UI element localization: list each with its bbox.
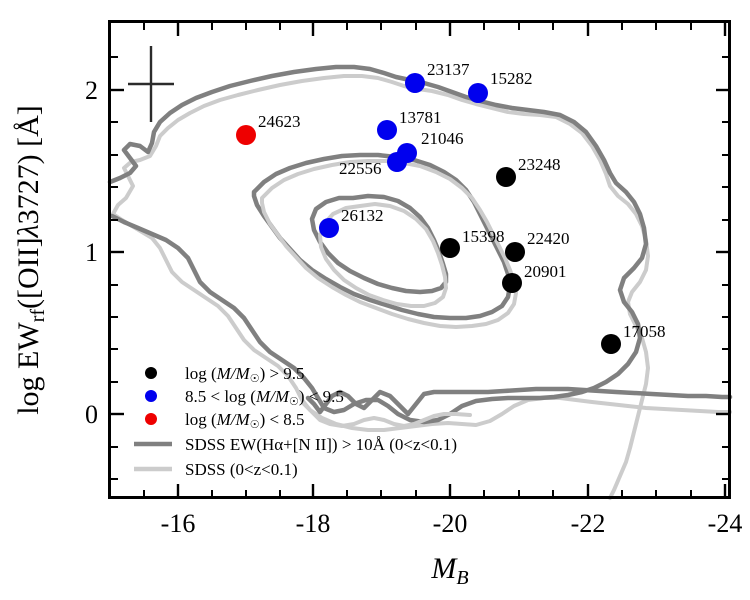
data-point-label-15282: 15282	[490, 69, 533, 88]
x-tick-label: -16	[161, 509, 196, 538]
data-point-label-24623: 24623	[258, 112, 301, 131]
data-point-24623[interactable]	[236, 125, 256, 145]
x-tick-label: -24	[708, 509, 743, 538]
legend-marker-mass-low	[145, 413, 157, 425]
legend-label-mass-mid: 8.5 < log (M/M☉) < 9.5	[185, 387, 344, 408]
data-point-22556[interactable]	[387, 152, 407, 172]
x-tick-label: -20	[433, 509, 468, 538]
legend-label-mass-high: log (M/M☉) > 9.5	[185, 364, 305, 385]
y-tick-label: 0	[85, 400, 98, 429]
data-point-23137[interactable]	[405, 73, 425, 93]
data-point-17058[interactable]	[601, 334, 621, 354]
data-point-label-21046: 21046	[421, 129, 464, 148]
data-point-20901[interactable]	[502, 273, 522, 293]
data-point-22420[interactable]	[505, 242, 525, 262]
data-point-15282[interactable]	[468, 83, 488, 103]
scatter-plot: 23137 15282 24623 13781 21046 22556 2324…	[0, 0, 750, 600]
legend-label-sdss-ew: SDSS EW(Hα+[N II]) > 10Å (0<z<0.1)	[185, 435, 457, 454]
x-tick-labels: -16 -18 -20 -22 -24	[161, 509, 743, 538]
data-point-label-15398: 15398	[462, 227, 505, 246]
data-point-label-22556: 22556	[339, 159, 382, 178]
data-points-group: 23137 15282 24623 13781 21046 22556 2324…	[236, 60, 666, 354]
legend-marker-mass-high	[145, 367, 157, 379]
y-tick-label: 2	[85, 76, 98, 105]
data-point-23248[interactable]	[496, 167, 516, 187]
data-point-label-22420: 22420	[527, 229, 570, 248]
y-axis-title: log EWrf([OII]λ3727) [Å]	[12, 105, 49, 415]
x-tick-label: -22	[571, 509, 606, 538]
x-axis-title: MB	[430, 552, 468, 589]
data-point-label-23248: 23248	[518, 155, 561, 174]
y-tick-labels: 2 1 0	[85, 76, 98, 429]
data-point-label-26132: 26132	[341, 206, 384, 225]
data-point-label-17058: 17058	[623, 322, 666, 341]
legend-label-mass-low: log (M/M☉) < 8.5	[185, 410, 305, 431]
legend-label-sdss-all: SDSS (0<z<0.1)	[185, 460, 298, 479]
figure-root: 23137 15282 24623 13781 21046 22556 2324…	[0, 0, 750, 600]
x-tick-label: -18	[296, 509, 331, 538]
error-bar-cross	[128, 46, 174, 122]
data-point-15398[interactable]	[440, 238, 460, 258]
data-point-13781[interactable]	[377, 120, 397, 140]
legend-marker-mass-mid	[145, 390, 157, 402]
data-point-label-20901: 20901	[524, 262, 567, 281]
contour-group	[110, 67, 730, 498]
data-point-label-13781: 13781	[399, 108, 442, 127]
data-point-26132[interactable]	[319, 218, 339, 238]
y-tick-label: 1	[85, 238, 98, 267]
data-point-label-23137: 23137	[427, 60, 470, 79]
